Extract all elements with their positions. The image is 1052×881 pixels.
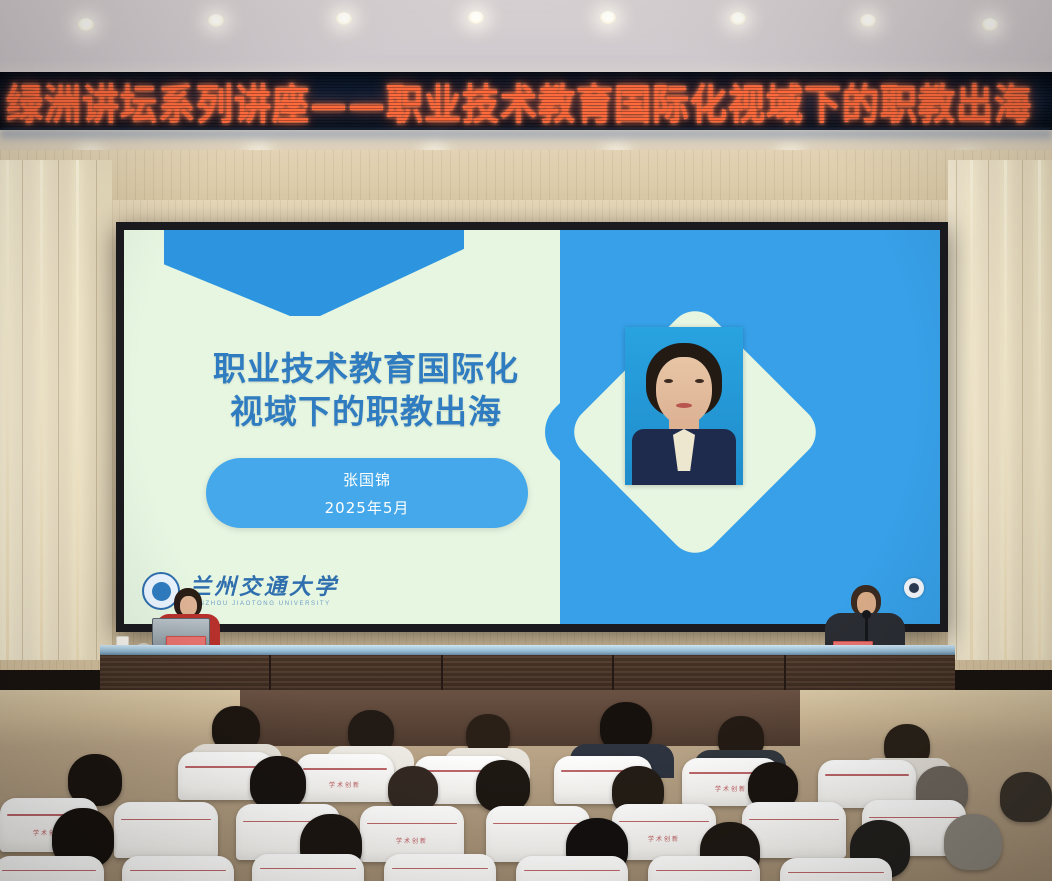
audience-head	[1000, 772, 1052, 822]
projection-screen-frame: 职业技术教育国际化 视域下的职教出海 张国锦 2025年5月 兰州交通大学 LA…	[116, 222, 948, 632]
led-banner: 绿洲讲坛系列讲座——职业技术教育国际化视域下的职教出海	[0, 72, 1052, 130]
microphone-icon	[865, 615, 868, 641]
slide-date: 2025年5月	[325, 497, 410, 518]
ceiling-downlight-icon	[600, 11, 616, 24]
seat-mark-text: 学术创新	[296, 780, 394, 789]
ceiling-downlight-icon	[730, 12, 746, 25]
audience-seat	[114, 802, 218, 858]
speaker-portrait-photo	[625, 327, 743, 485]
ceiling-downlight-icon	[468, 11, 484, 24]
slide-triangle-decor	[164, 230, 464, 316]
ceiling-downlight-icon	[860, 14, 876, 27]
banner-glow	[0, 130, 1052, 144]
audience-head	[476, 760, 530, 812]
audience-seat	[516, 856, 628, 881]
audience-area: 学术创新 学术创新 学术创新 学术创新 学术创新	[0, 690, 1052, 881]
right-wall-panels	[948, 160, 1052, 660]
audience-seat: 学术创新	[296, 754, 394, 802]
audience-seat: 学术创新	[122, 856, 234, 881]
rear-wall-dark	[240, 690, 800, 746]
audience-seat: 学术创新	[648, 856, 760, 881]
audience-seat	[384, 854, 496, 881]
host-face	[180, 596, 197, 616]
slide-presenter-name: 张国锦	[343, 469, 391, 490]
slide-title: 职业技术教育国际化 视域下的职教出海	[166, 348, 566, 434]
slide-presenter-pill: 张国锦 2025年5月	[206, 458, 528, 528]
seat-mark-text: 学术创新	[360, 836, 464, 845]
ceiling-downlight-icon	[208, 14, 224, 27]
slide-title-line2: 视域下的职教出海	[166, 391, 566, 434]
left-wall-panels	[0, 160, 112, 660]
avatar-badge-icon	[904, 578, 924, 598]
audience-seat	[0, 856, 104, 881]
ceiling-downlight-icon	[982, 18, 998, 31]
audience-head	[250, 756, 306, 810]
led-banner-text: 绿洲讲坛系列讲座——职业技术教育国际化视域下的职教出海	[0, 72, 1032, 130]
presentation-slide: 职业技术教育国际化 视域下的职教出海 张国锦 2025年5月 兰州交通大学 LA…	[124, 230, 940, 624]
audience-seat	[252, 854, 364, 881]
audience-head	[944, 814, 1002, 870]
ceiling-downlight-icon	[78, 18, 94, 31]
slide-title-line1: 职业技术教育国际化	[166, 348, 566, 391]
audience-seat	[780, 858, 892, 881]
lecture-hall-photo: 绿洲讲坛系列讲座——职业技术教育国际化视域下的职教出海 职业技术教育国际化	[0, 0, 1052, 881]
ceiling-downlight-icon	[336, 12, 352, 25]
